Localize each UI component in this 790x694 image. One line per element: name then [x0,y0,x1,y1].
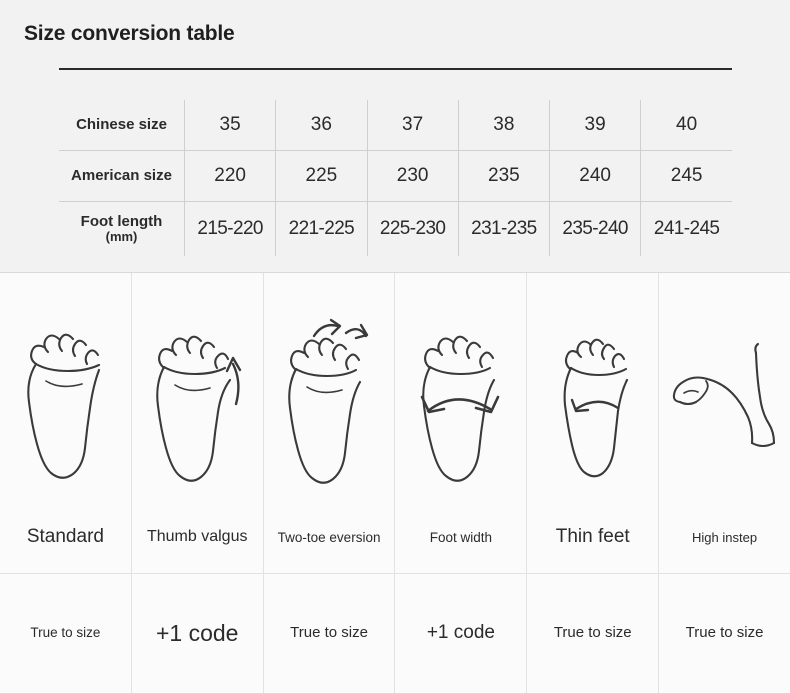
cell: 215-220 [185,202,276,257]
foot-type-column-standard: Standard True to size [0,273,132,693]
foot-type-name: Two-toe eversion [264,501,395,573]
cell: 37 [367,100,458,151]
foot-thin-icon [527,273,658,501]
foot-type-name: Standard [0,501,131,573]
row-header-american-size: American size [59,151,185,202]
foot-type-name: High instep [659,501,790,573]
foot-type-advice: True to size [527,573,658,693]
page-title: Size conversion table [24,22,235,46]
table-row: Chinese size 35 36 37 38 39 40 [59,100,732,151]
foot-width-icon [395,273,526,501]
foot-thumb-valgus-icon [132,273,263,501]
foot-high-instep-icon [659,273,790,501]
foot-type-column-high-instep: High instep True to size [659,273,790,693]
foot-type-column-two-toe-eversion: Two-toe eversion True to size [264,273,396,693]
foot-type-column-thin-feet: Thin feet True to size [527,273,659,693]
cell: 235 [458,151,549,202]
size-chart-page: Size conversion table Chinese size 35 36… [0,0,790,692]
foot-type-column-foot-width: Foot width +1 code [395,273,527,693]
foot-type-column-thumb-valgus: Thumb valgus +1 code [132,273,264,693]
cell: 220 [185,151,276,202]
foot-type-advice: True to size [264,573,395,693]
row-header-label: Chinese size [76,116,167,133]
row-header-chinese-size: Chinese size [59,100,185,151]
title-divider [59,68,732,70]
cell: 40 [641,100,732,151]
cell: 225-230 [367,202,458,257]
cell: 221-225 [276,202,367,257]
foot-standard-icon [0,273,131,501]
foot-type-advice: +1 code [132,573,263,693]
cell: 245 [641,151,732,202]
cell: 35 [185,100,276,151]
cell: 39 [550,100,641,151]
cell: 38 [458,100,549,151]
table-row: Foot length (mm) 215-220 221-225 225-230… [59,202,732,257]
foot-type-panel: Standard True to size [0,272,790,694]
table-row: American size 220 225 230 235 240 245 [59,151,732,202]
cell: 225 [276,151,367,202]
cell: 230 [367,151,458,202]
foot-type-name: Foot width [395,501,526,573]
foot-type-name: Thumb valgus [132,501,263,573]
row-header-label: Foot length [81,213,163,230]
foot-type-advice: +1 code [395,573,526,693]
cell: 235-240 [550,202,641,257]
cell: 241-245 [641,202,732,257]
foot-type-advice: True to size [659,573,790,693]
row-header-label: American size [71,167,172,184]
foot-type-advice: True to size [0,573,131,693]
row-header-unit: (mm) [59,230,184,245]
row-header-foot-length: Foot length (mm) [59,202,185,257]
foot-type-name: Thin feet [527,501,658,573]
cell: 231-235 [458,202,549,257]
cell: 36 [276,100,367,151]
foot-two-toe-eversion-icon [264,273,395,501]
size-conversion-table: Chinese size 35 36 37 38 39 40 American … [59,100,732,256]
cell: 240 [550,151,641,202]
